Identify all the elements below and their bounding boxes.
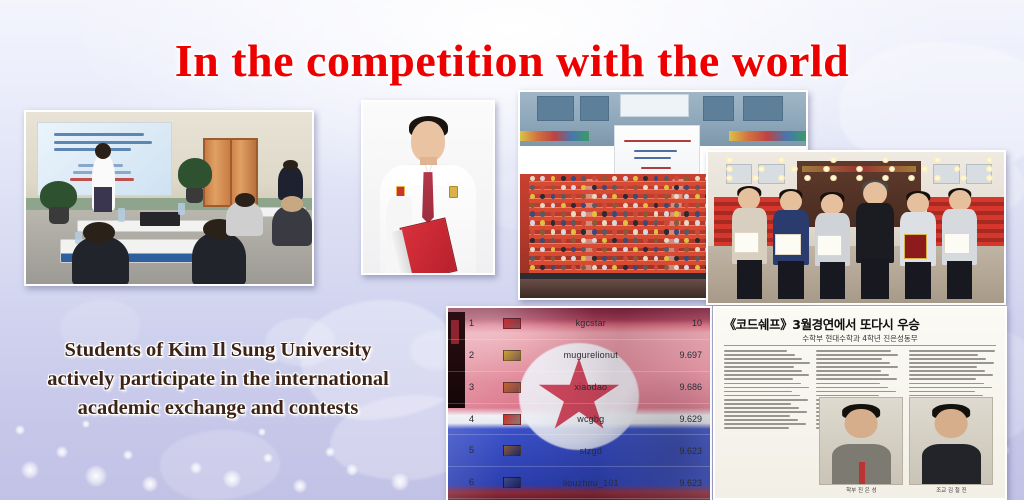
flag-cell — [495, 477, 529, 488]
award-person — [773, 191, 809, 297]
photo-student-portrait — [361, 100, 495, 275]
flag-thumb — [503, 445, 521, 456]
flag-cell — [495, 318, 529, 329]
handle-cell: kgcstar — [529, 318, 652, 328]
score-cell: 9.623 — [652, 446, 710, 456]
score-cell: 9.686 — [652, 382, 710, 392]
award-person — [732, 188, 768, 297]
caption-line-3: academic exchange and contests — [16, 394, 420, 423]
score-cell: 9.629 — [652, 414, 710, 424]
flag-thumb — [503, 477, 521, 488]
portrait-right — [909, 397, 993, 484]
leaderboard-row: 3xiaodao9.686 — [448, 372, 710, 404]
caption-block: Students of Kim Il Sung University activ… — [16, 336, 420, 423]
rank-cell: 5 — [448, 445, 495, 456]
flag-cell — [495, 445, 529, 456]
score-cell: 9.697 — [652, 350, 710, 360]
newspaper-portraits — [819, 397, 993, 484]
rank-cell: 4 — [448, 414, 495, 425]
leaderboard-row: 5stzgd9.623 — [448, 435, 710, 467]
handle-cell: xiaodao — [529, 382, 652, 392]
score-cell: 9.623 — [652, 478, 710, 488]
slide-canvas: In the competition with the world Studen… — [0, 0, 1024, 500]
flag-thumb — [503, 382, 521, 393]
presenter-figure — [92, 155, 115, 210]
caption-line-1: Students of Kim Il Sung University — [16, 336, 420, 365]
newspaper-headline: 《코드쉐프》3월경연에서 또다시 우승 — [724, 314, 997, 333]
leaderboard-row: 6liouzhou_1019.623 — [448, 467, 710, 499]
flag-cell — [495, 414, 529, 425]
photo-newspaper-clipping: 《코드쉐프》3월경연에서 또다시 우승 수학부 현대수학과 4학년 진은성동무 … — [713, 306, 1007, 500]
handle-cell: mugurelionut — [529, 350, 652, 360]
portrait-left — [819, 397, 903, 484]
leaderboard-row: 4wcgbg9.629 — [448, 404, 710, 436]
page-title: In the competition with the world — [0, 34, 1024, 87]
portrait-caption-right: 조교 김 철 진 — [909, 486, 993, 494]
award-person — [856, 182, 894, 297]
caption-line-2: actively participate in the internationa… — [16, 365, 420, 394]
flag-cell — [495, 350, 529, 361]
handle-cell: stzgd — [529, 446, 652, 456]
rank-cell: 6 — [448, 477, 495, 488]
award-person — [900, 193, 936, 297]
leaderboard-row: 2mugurelionut9.697 — [448, 340, 710, 372]
stage-banner — [614, 125, 700, 181]
dprk-flag — [503, 318, 521, 329]
handle-cell: wcgbg — [529, 414, 652, 424]
rank-cell: 3 — [448, 382, 495, 393]
photo-leaderboard-screen: 1kgcstar102mugurelionut9.6973xiaodao9.68… — [446, 306, 712, 500]
rank-cell: 1 — [448, 318, 495, 329]
leaderboard-table: 1kgcstar102mugurelionut9.6973xiaodao9.68… — [448, 308, 710, 500]
flag-cell — [495, 382, 529, 393]
rank-cell: 2 — [448, 350, 495, 361]
photo-lecture-presentation — [24, 110, 314, 286]
score-cell: 10 — [652, 318, 710, 328]
handle-cell: liouzhou_101 — [529, 478, 652, 488]
award-person — [815, 194, 851, 297]
portrait-caption-left: 학부 진 은 성 — [819, 486, 903, 494]
newspaper-column — [724, 348, 812, 453]
china-flag — [503, 414, 521, 425]
newspaper-subhead: 수학부 현대수학과 4학년 진은성동무 — [724, 333, 997, 344]
leaderboard-row: 1kgcstar10 — [448, 308, 710, 340]
romania-flag — [503, 350, 521, 361]
photo-award-ceremony — [706, 150, 1006, 305]
newspaper-photo-captions: 학부 진 은 성 조교 김 철 진 — [819, 486, 993, 494]
award-person — [942, 190, 978, 297]
